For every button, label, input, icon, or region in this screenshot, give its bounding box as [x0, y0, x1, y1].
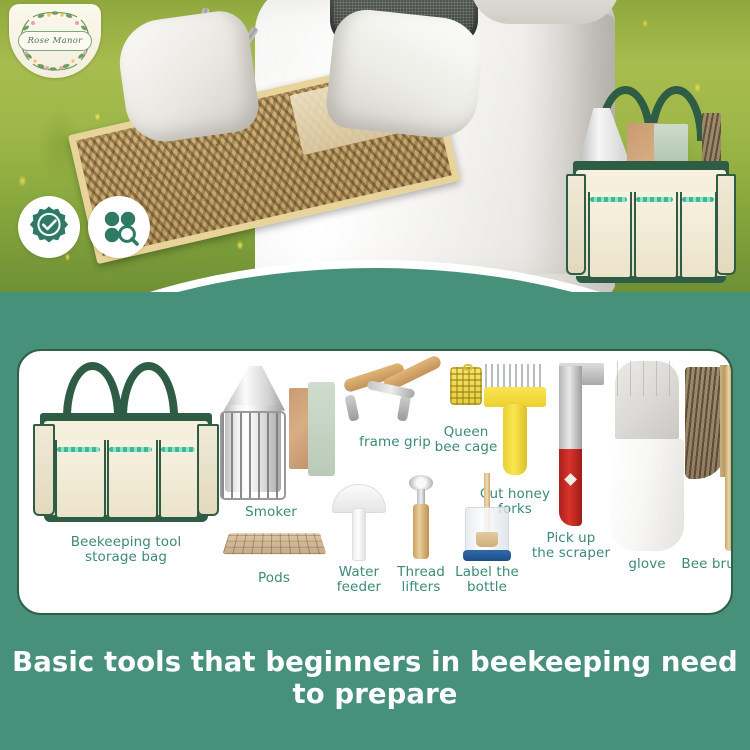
tool-label-line2: storage bag [33, 550, 219, 565]
label-bottle-jar [465, 507, 510, 554]
bag-side-pocket-right [716, 174, 736, 276]
inset-green-pad-icon [654, 124, 688, 164]
tool-label: glove [607, 557, 687, 572]
bag-front-pocket-3 [159, 440, 198, 519]
bag-front-pocket-2 [634, 192, 678, 279]
bag-front-pocket-2 [107, 440, 157, 519]
pods-art [219, 517, 329, 567]
brand-name: Rose Manor [27, 36, 82, 46]
smoker-art [207, 363, 335, 503]
bag-side-pocket-left [33, 424, 55, 516]
tool-label-line1: Water [323, 565, 395, 580]
tool-label-line1: Label the [447, 565, 527, 580]
tool-label: Water feeder [323, 565, 395, 595]
feature-badges [18, 196, 150, 258]
bee-brush-handle [725, 365, 733, 551]
water-feeder-art [323, 477, 395, 563]
tool-label-line1: Bee brush [679, 557, 733, 572]
tool-pods: Pods [219, 517, 329, 586]
four-dots-magnifier-icon [97, 205, 141, 249]
tool-thread-lifters: Thread lifters [387, 473, 455, 595]
bag-handle-left [63, 362, 123, 418]
tool-label-line2: bottle [447, 580, 527, 595]
tool-label: Beekeeping tool storage bag [33, 535, 219, 565]
honey-fork-handle [503, 404, 526, 475]
tool-label: Pods [219, 571, 329, 586]
bag-front-pocket-1 [55, 440, 105, 519]
brand-logo: Rose Manor [9, 4, 101, 78]
tool-label-line2: feeder [323, 580, 395, 595]
tools-card: Beekeeping tool storage bag Smoker Pods [17, 349, 733, 615]
bag-stitch-1 [590, 197, 627, 202]
glove-fingers [617, 361, 678, 396]
pods-tray [222, 533, 326, 554]
gloved-hand-left [114, 7, 262, 146]
storage-bag-art [33, 365, 219, 529]
water-feeder-stem [352, 508, 366, 561]
thread-lifter-art [387, 473, 455, 563]
smoker-cage-guard [220, 411, 287, 501]
label-bottle-cap [463, 550, 511, 561]
tool-label-line1: glove [607, 557, 687, 572]
inset-product-bag [566, 108, 736, 290]
bag-front-pocket-3 [680, 192, 717, 279]
label-bottle-art [447, 473, 527, 563]
tool-label-line2: lifters [387, 580, 455, 595]
tool-smoker: Smoker [207, 363, 335, 520]
bag-handle-right [119, 362, 179, 418]
smoker-cone-icon [224, 366, 285, 411]
tool-bee-brush: Bee brush [679, 361, 733, 572]
tool-label-line2: the scraper [527, 546, 615, 561]
bag-art [566, 108, 736, 290]
bag-stitch-1 [57, 447, 100, 452]
thread-lifter-handle [413, 504, 429, 560]
frame-grip-jaw-2 [397, 394, 411, 421]
frame-grip-jaw-1 [344, 394, 359, 422]
tool-label: Pick up the scraper [527, 531, 615, 561]
bag-side-pocket-left [566, 174, 586, 276]
hive-tool-blade [559, 366, 582, 452]
tool-label-line1: Thread [387, 565, 455, 580]
hive-tool-hook-red [559, 449, 582, 525]
bottom-caption: Basic tools that beginners in beekeeping… [0, 646, 750, 710]
gloved-hand-right [324, 6, 486, 141]
bee-brush-art [679, 361, 733, 555]
tool-label-line1: Beekeeping tool [33, 535, 219, 550]
bag-front-pocket-1 [588, 192, 632, 279]
hive-tool-art [527, 363, 615, 529]
bag-stitch-3 [682, 197, 714, 202]
tool-label-line1: Pick up [527, 531, 615, 546]
bag-stitch-3 [161, 447, 194, 452]
tool-label: Bee brush [679, 557, 733, 572]
detail-inspect-badge [88, 196, 150, 258]
brand-logo-plate: Rose Manor [18, 31, 92, 51]
tool-label-line1: Pods [219, 571, 329, 586]
tool-label-bottle: Label the bottle [447, 473, 527, 595]
bag-stitch-2 [636, 197, 673, 202]
bag-stitch-2 [109, 447, 152, 452]
tool-storage-bag: Beekeeping tool storage bag [33, 365, 219, 565]
tool-water-feeder: Water feeder [323, 477, 395, 595]
tool-glove: glove [607, 361, 687, 572]
thread-lifter-neck [417, 489, 425, 505]
quality-check-badge [18, 196, 80, 258]
label-bottle-brush [476, 532, 498, 546]
glove-art [607, 361, 687, 555]
tool-label: Label the bottle [447, 565, 527, 595]
tool-label: Thread lifters [387, 565, 455, 595]
tool-scraper: Pick up the scraper [527, 363, 615, 561]
checkmark-seal-icon [27, 205, 71, 249]
smoker-bellows [289, 388, 333, 469]
glove-gauntlet-cuff [610, 439, 684, 552]
